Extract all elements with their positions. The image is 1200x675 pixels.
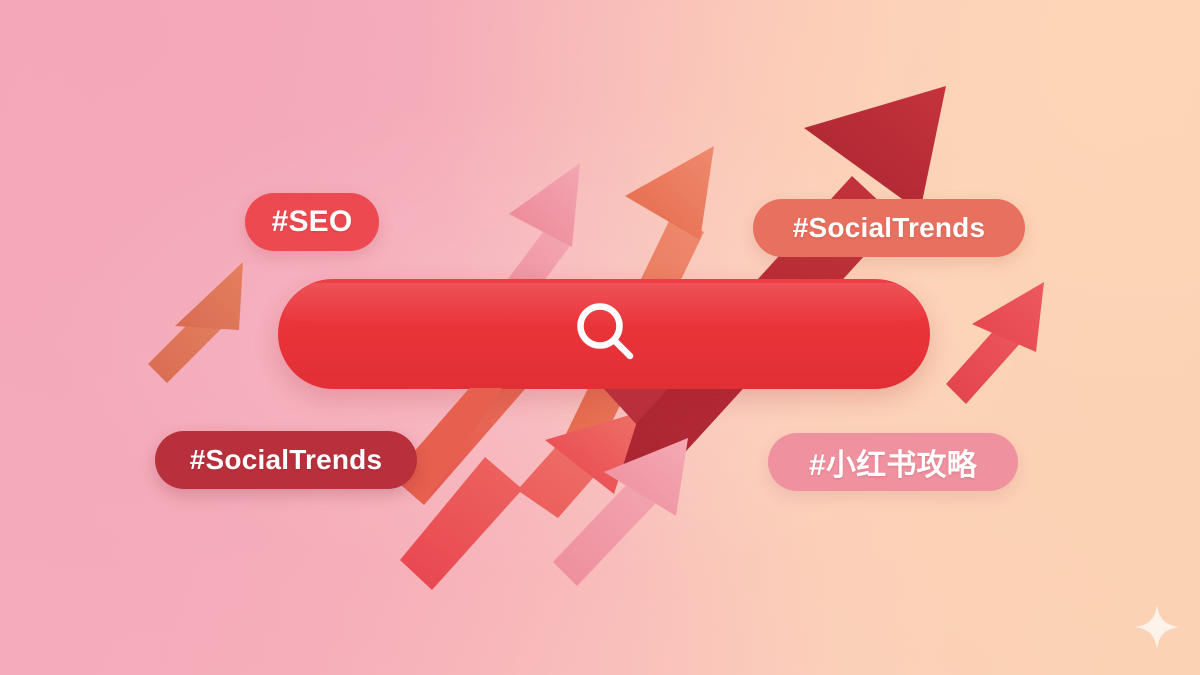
hashtag-pill-xiaohongshu[interactable]: #小红书攻略 bbox=[768, 433, 1018, 491]
hashtag-pill-social-trends-bottom[interactable]: #SocialTrends bbox=[155, 431, 417, 489]
hashtag-pill-seo[interactable]: #SEO bbox=[245, 193, 379, 251]
hashtag-pill-label: #SocialTrends bbox=[793, 212, 985, 244]
sparkle-icon bbox=[1133, 603, 1181, 651]
sparkle-icon-svg bbox=[1133, 603, 1181, 651]
arrow-layer-front bbox=[0, 0, 1200, 675]
arrow-big-dark-tail bbox=[604, 389, 668, 424]
illustration-canvas: #SEO #SocialTrends #SocialTrends #小红书攻略 bbox=[0, 0, 1200, 675]
arrow-mid-pink-tail bbox=[447, 330, 494, 389]
hashtag-pill-label: #SocialTrends bbox=[190, 444, 382, 476]
hashtag-pill-label: #SEO bbox=[272, 205, 353, 239]
hashtag-pill-label: #小红书攻略 bbox=[809, 440, 977, 484]
arrows-front-svg bbox=[0, 0, 1200, 675]
hashtag-pill-social-trends-top[interactable]: #SocialTrends bbox=[753, 199, 1025, 257]
